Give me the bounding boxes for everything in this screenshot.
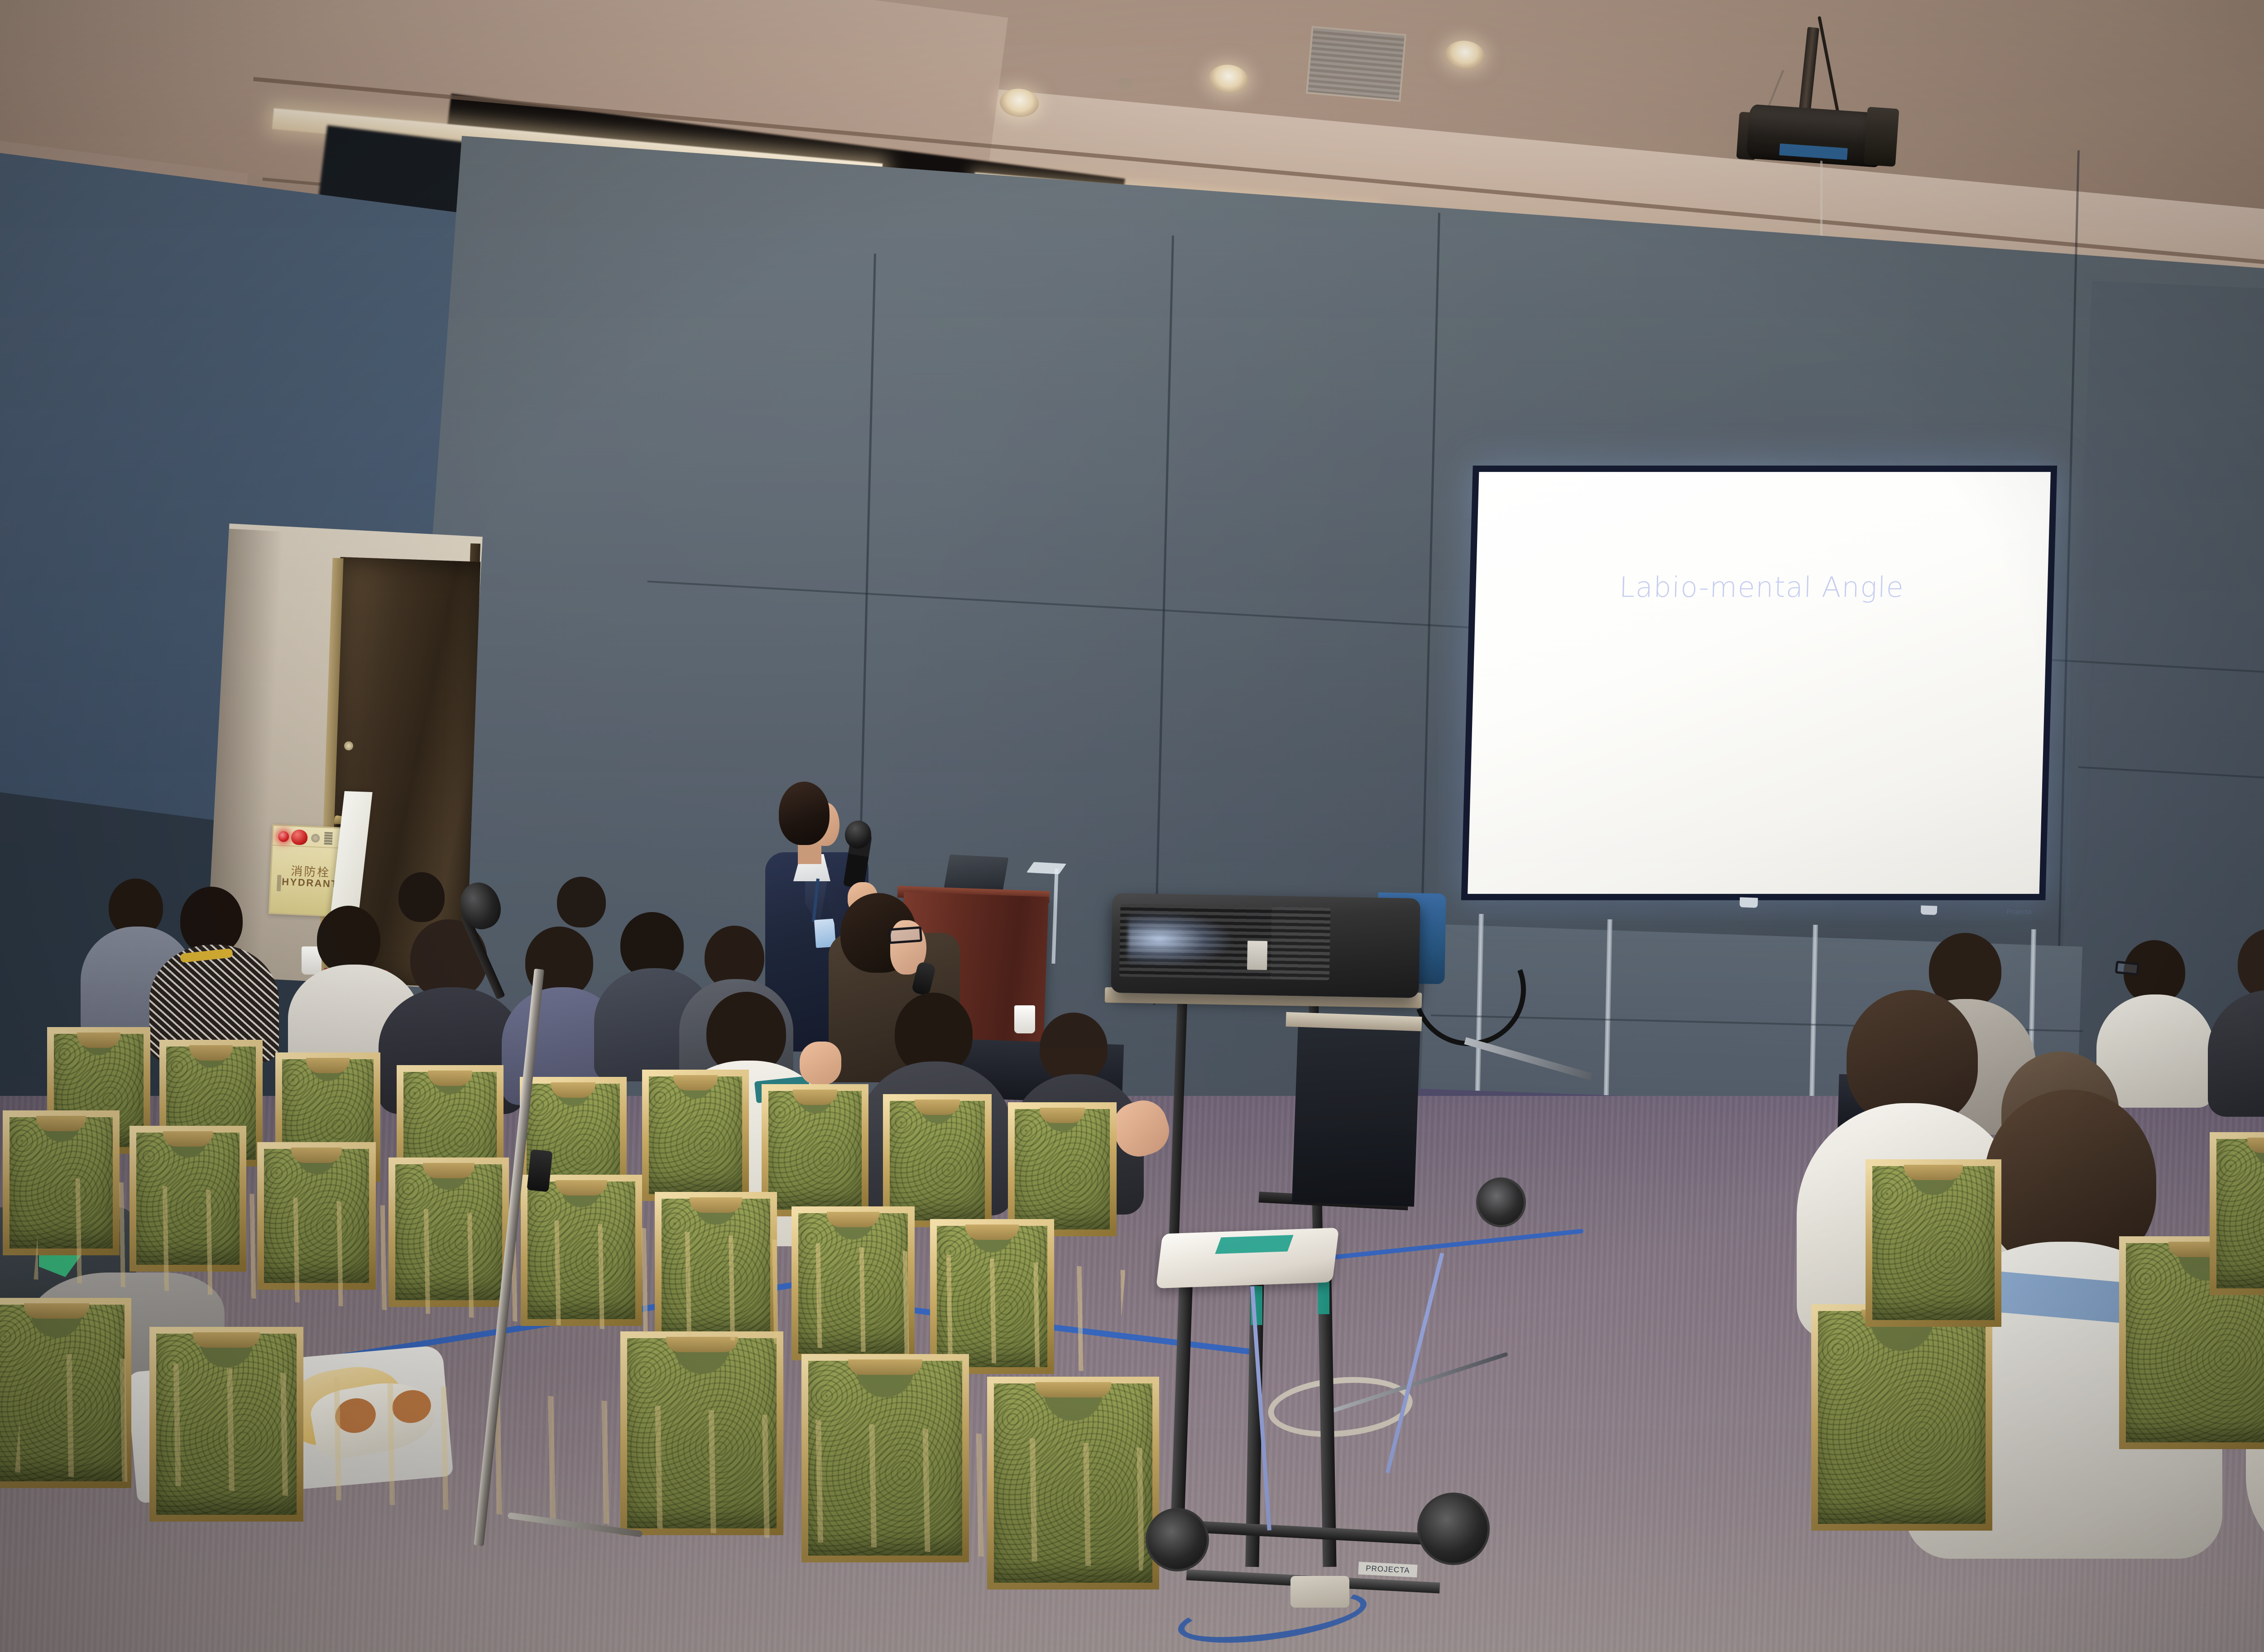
chair-notch <box>428 1071 473 1086</box>
screen-tension-tab-2 <box>1921 905 1938 915</box>
ceiling-air-vent <box>1306 26 1406 102</box>
spotlight-lens <box>1864 107 1899 167</box>
floor-tape-roll <box>1290 1576 1349 1608</box>
projector-cart-wheel <box>1476 1177 1526 1227</box>
chair-backrest <box>642 1070 749 1201</box>
mic-stand-height-clutch[interactable] <box>527 1149 552 1192</box>
projector <box>1111 893 1420 998</box>
door-lock[interactable] <box>344 741 353 750</box>
chair-notch <box>189 1045 232 1061</box>
chair-notch <box>793 1090 838 1105</box>
ceiling-sensor <box>1118 78 1133 90</box>
chair-backrest <box>2210 1132 2264 1295</box>
alarm-speaker-grille-icon <box>324 832 333 845</box>
lecture-hall-photo: 消防栓 HYDRANT Labio-mental Angle Projecta <box>0 0 2264 1652</box>
chair-right-mid-2[interactable] <box>2210 1132 2264 1295</box>
alarm-push-button[interactable] <box>311 834 320 843</box>
moderator-glasses <box>888 926 922 944</box>
chair-backrest <box>1811 1304 1992 1531</box>
chair-notch <box>77 1032 120 1048</box>
alarm-bell-icon <box>291 829 307 845</box>
alarm-lamp-icon <box>278 831 289 842</box>
chair-notch <box>1040 1108 1085 1123</box>
audience-head-l9 <box>557 877 606 927</box>
screen-surface: Labio-mental Angle <box>1468 472 2051 894</box>
chair-notch <box>551 1082 596 1098</box>
chair-notch <box>193 1332 260 1348</box>
chair-notch <box>163 1131 212 1147</box>
chair-back-l9[interactable] <box>1008 1102 1117 1236</box>
screen-tension-tab-1 <box>1740 897 1758 908</box>
chair-notch <box>423 1163 474 1178</box>
paper-cup-1 <box>1014 1005 1035 1033</box>
presenter-head <box>779 782 830 845</box>
chair-right-front-1[interactable] <box>1811 1304 1992 1531</box>
av-cart-wheel-left <box>1146 1508 1209 1571</box>
audience-head-l8 <box>398 872 445 922</box>
audience-head-l3 <box>317 906 380 974</box>
chair-notch <box>291 1148 341 1163</box>
chair-backrest <box>1866 1159 2001 1327</box>
chair-notch <box>306 1058 350 1073</box>
av-cart-wheel-right <box>1417 1493 1490 1565</box>
chair-notch <box>36 1116 86 1131</box>
audience-glasses-r2 <box>2115 960 2140 975</box>
chair-backrest <box>762 1084 868 1216</box>
projector-lens-reflection <box>1127 912 1233 968</box>
chair-notch <box>1904 1165 1963 1180</box>
projector-vent-grille-icon-2 <box>1271 907 1331 980</box>
chair-notch <box>1035 1382 1111 1397</box>
chair-notch <box>915 1100 960 1115</box>
av-cart-tape-marker-1 <box>1215 1235 1293 1254</box>
chair-notch <box>2247 1138 2264 1153</box>
chair-notch <box>965 1225 1018 1240</box>
chair-notch <box>827 1212 879 1227</box>
slide-title: Labio-mental Angle <box>1476 571 2048 604</box>
chair-notch <box>24 1303 89 1319</box>
chair-back-l7[interactable] <box>762 1084 868 1216</box>
screen-brand-label: Projecta <box>2006 908 2032 916</box>
chair-back-l6[interactable] <box>642 1070 749 1201</box>
audience-raised-hand-m1 <box>800 1042 841 1085</box>
chair-notch <box>556 1180 607 1196</box>
chair-notch <box>848 1359 922 1375</box>
chair-notch <box>673 1075 718 1090</box>
chair-notch <box>690 1197 742 1213</box>
chair-right-mid-1[interactable] <box>1866 1159 2001 1327</box>
chair-backrest <box>1008 1102 1117 1236</box>
audience-head-m3 <box>1040 1013 1108 1083</box>
projection-screen: Labio-mental Angle Projecta <box>1461 466 2057 900</box>
projector-warning-label <box>1247 941 1267 970</box>
